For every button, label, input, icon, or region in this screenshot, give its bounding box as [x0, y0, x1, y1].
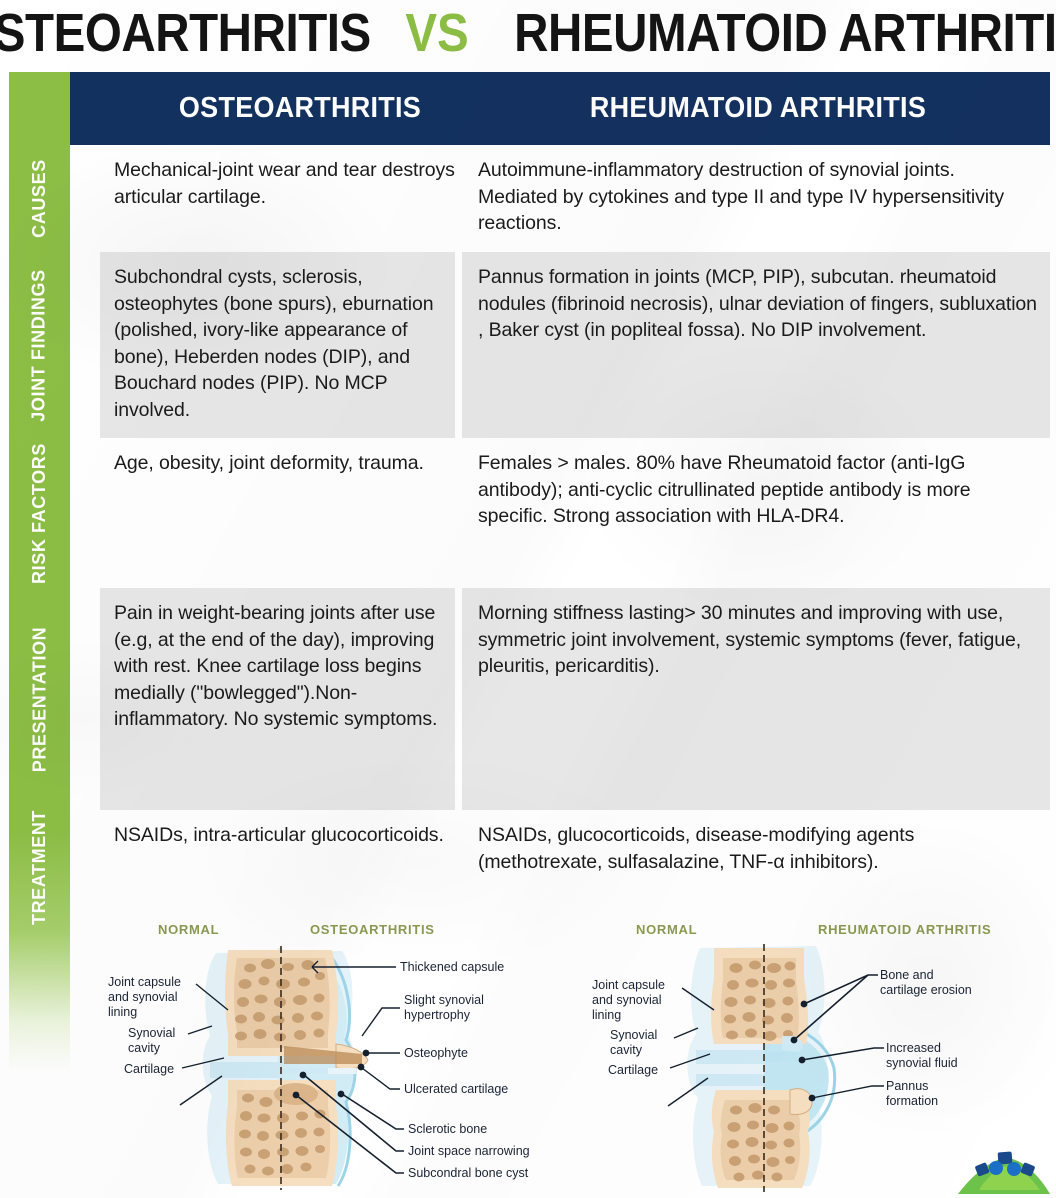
cell-treatment-ra: NSAIDs, glucocorticoids, disease-modifyi…: [478, 810, 1038, 875]
table-row: Mechanical-joint wear and tear destroys …: [100, 145, 1050, 252]
ra-label-joint-capsule-1: Joint capsule: [592, 978, 665, 993]
sidebar-item-causes[interactable]: CAUSES: [9, 145, 70, 252]
cell-joint-findings-ra: Pannus formation in joints (MCP, PIP), s…: [478, 252, 1038, 344]
table-row: Pain in weight-bearing joints after use …: [100, 588, 1050, 810]
column-divider: [455, 145, 462, 913]
ra-label-synovial-fluid-1: Increased: [886, 1041, 941, 1056]
oa-label-joint-space-narrowing: Joint space narrowing: [408, 1144, 530, 1159]
table-row: Subchondral cysts, sclerosis, osteophyte…: [100, 252, 1050, 438]
oa-label-cartilage: Cartilage: [124, 1062, 174, 1077]
cell-treatment-oa: NSAIDs, intra-articular glucocorticoids.: [114, 810, 458, 849]
title-left: OSTEOARTHRITIS: [0, 2, 371, 64]
sidebar-item-treatment[interactable]: TREATMENT: [9, 810, 70, 925]
sidebar-item-presentation[interactable]: PRESENTATION: [9, 588, 70, 810]
cell-joint-findings-oa: Subchondral cysts, sclerosis, osteophyte…: [114, 252, 458, 423]
table-header: OSTEOARTHRITIS RHEUMATOID ARTHRITIS: [70, 72, 1050, 145]
table-row: NSAIDs, intra-articular glucocorticoids.…: [100, 810, 1050, 913]
sidebar-label-causes: CAUSES: [29, 159, 50, 238]
ra-label-pannus-2: formation: [886, 1094, 938, 1109]
oa-label-joint-capsule-1: Joint capsule: [108, 975, 181, 990]
oa-label-thickened-capsule: Thickened capsule: [400, 960, 504, 975]
oa-label-synovial-hypertrophy-1: Slight synovial: [404, 993, 484, 1008]
brand-logo-icon: [956, 1144, 1052, 1196]
cell-causes-oa: Mechanical-joint wear and tear destroys …: [114, 145, 458, 210]
sidebar-item-joint-findings[interactable]: JOINT FINDINGS: [9, 252, 70, 438]
table-row: Age, obesity, joint deformity, trauma. F…: [100, 438, 1050, 588]
ra-label-synovial-2: cavity: [610, 1043, 642, 1058]
page-title: OSTEOARTHRITIS VS RHEUMATOID ARTHRITIS: [0, 2, 1056, 64]
cell-causes-ra: Autoimmune-inflammatory destruction of s…: [478, 145, 1038, 237]
osteoarthritis-joint-diagram: NORMAL OSTEOARTHRITIS: [100, 918, 578, 1198]
ra-label-bone-erosion-1: Bone and: [880, 968, 934, 983]
cell-presentation-oa: Pain in weight-bearing joints after use …: [114, 588, 458, 733]
sidebar-label-presentation: PRESENTATION: [29, 626, 50, 772]
sidebar-label-risk-factors: RISK FACTORS: [29, 443, 50, 584]
oa-label-osteophyte: Osteophyte: [404, 1046, 468, 1061]
ra-label-joint-capsule-2: and synovial: [592, 993, 662, 1008]
cell-risk-factors-ra: Females > males. 80% have Rheumatoid fac…: [478, 438, 1038, 530]
ra-label-pannus-1: Pannus: [886, 1079, 928, 1094]
ra-label-bone-erosion-2: cartilage erosion: [880, 983, 972, 998]
title-vs: VS: [404, 2, 471, 64]
oa-label-joint-capsule-3: lining: [108, 1005, 137, 1020]
title-right: RHEUMATOID ARTHRITIS: [514, 2, 1056, 64]
oa-label-joint-capsule-2: and synovial: [108, 990, 178, 1005]
cell-risk-factors-oa: Age, obesity, joint deformity, trauma.: [114, 438, 458, 477]
ra-label-cartilage: Cartilage: [608, 1063, 658, 1078]
oa-label-synovial-hypertrophy-2: hypertrophy: [404, 1008, 470, 1023]
oa-label-synovial-1: Synovial: [128, 1026, 175, 1041]
oa-label-synovial-2: cavity: [128, 1041, 160, 1056]
ra-label-joint-capsule-3: lining: [592, 1008, 621, 1023]
ra-label-synovial-fluid-2: synovial fluid: [886, 1056, 958, 1071]
oa-label-subcondral-bone-cyst: Subcondral bone cyst: [408, 1166, 528, 1181]
column-header-rheumatoid: RHEUMATOID ARTHRITIS: [498, 72, 1019, 145]
ra-label-synovial-1: Synovial: [610, 1028, 657, 1043]
oa-label-sclerotic-bone: Sclerotic bone: [408, 1122, 487, 1137]
diagram-area: NORMAL OSTEOARTHRITIS: [100, 918, 1056, 1198]
cell-presentation-ra: Morning stiffness lasting> 30 minutes an…: [478, 588, 1038, 680]
sidebar-label-joint-findings: JOINT FINDINGS: [29, 269, 50, 421]
column-header-osteoarthritis: OSTEOARTHRITIS: [119, 72, 482, 145]
sidebar-label-treatment: TREATMENT: [29, 810, 50, 925]
sidebar-item-risk-factors[interactable]: RISK FACTORS: [9, 438, 70, 588]
oa-label-ulcerated-cartilage: Ulcerated cartilage: [404, 1082, 508, 1097]
